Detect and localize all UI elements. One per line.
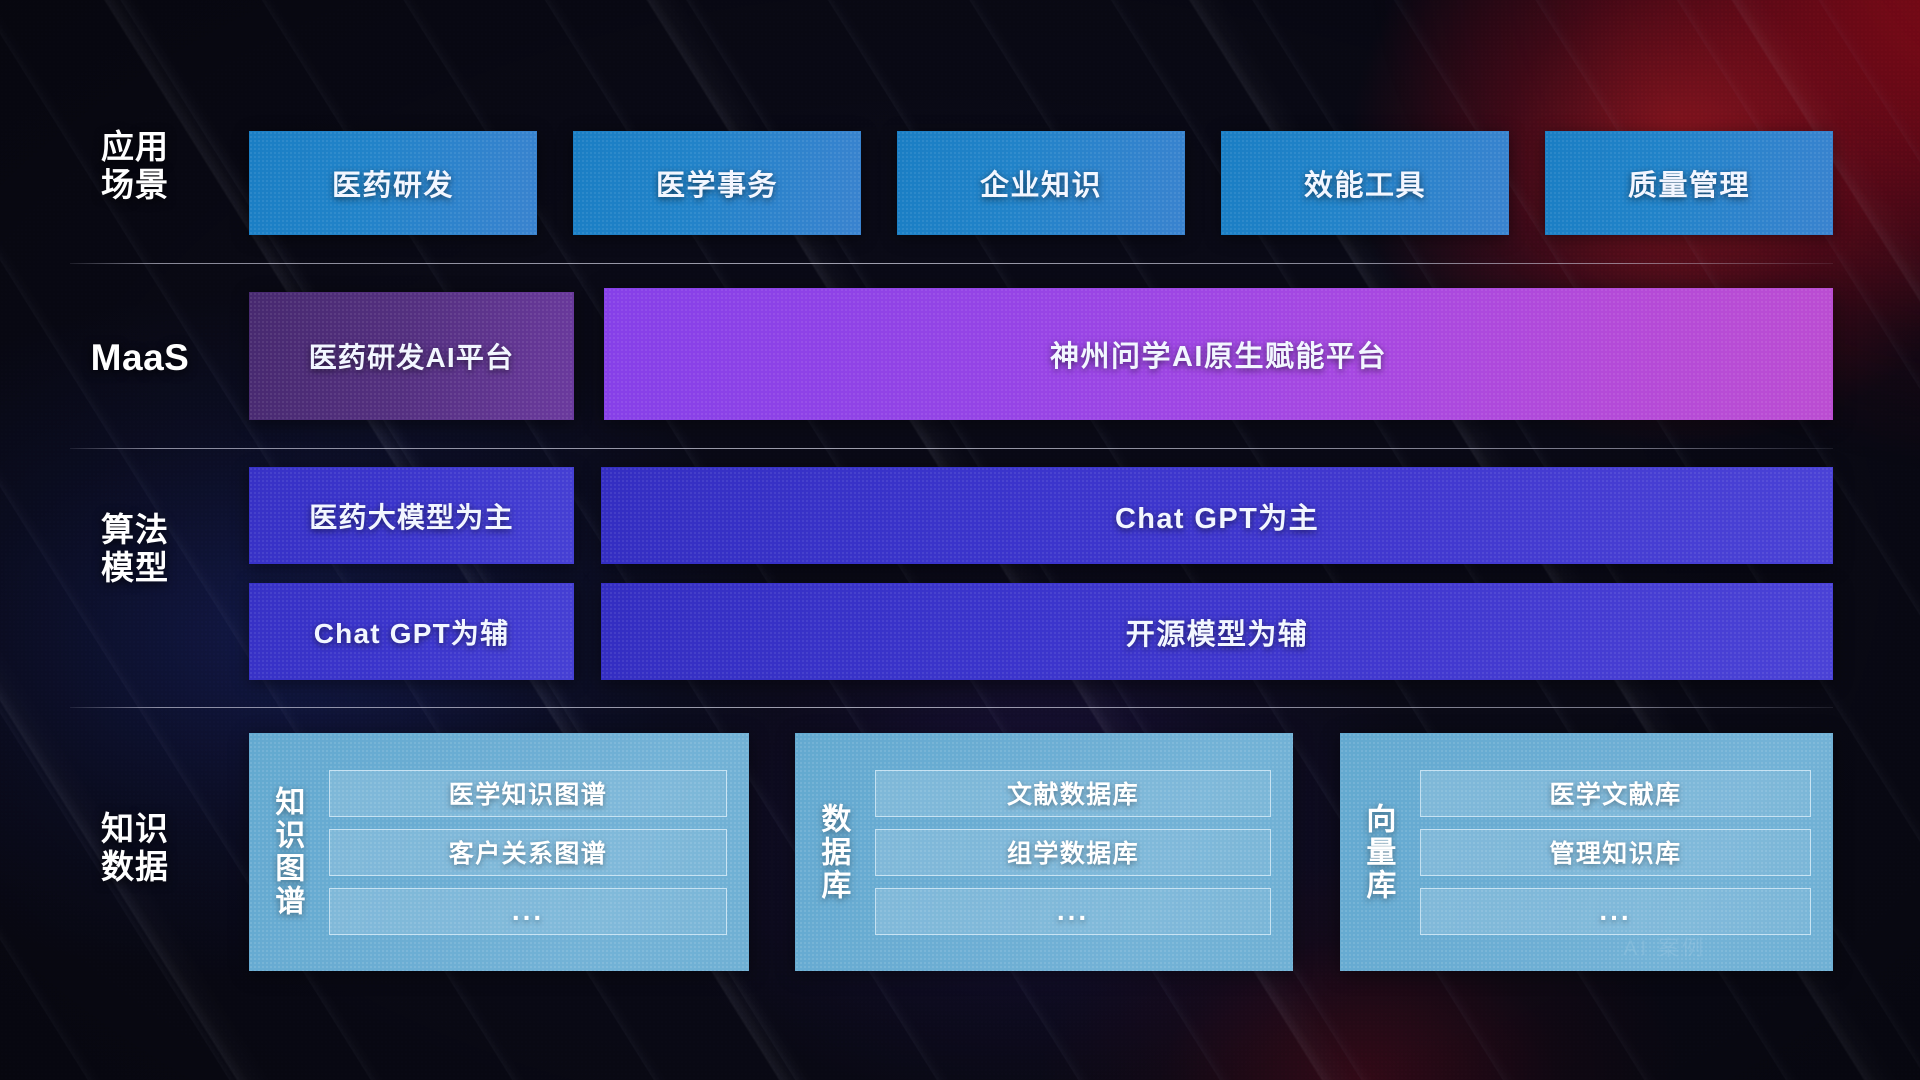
- knowledge-item-label: 医学知识图谱: [449, 775, 607, 811]
- app-scenario-label: 企业知识: [980, 162, 1102, 204]
- algorithm-label: Chat GPT为主: [1115, 495, 1319, 537]
- knowledge-item-label: ...: [512, 895, 544, 927]
- row-divider-3: [70, 707, 1833, 708]
- row-label-line: 模型: [70, 549, 200, 587]
- algorithm-box-medical-llm-primary[interactable]: 医药大模型为主: [249, 467, 574, 564]
- knowledge-item-more[interactable]: ...: [1420, 888, 1811, 935]
- row-label-line: 数据: [70, 848, 200, 886]
- algorithm-label: 开源模型为辅: [1126, 611, 1308, 653]
- knowledge-item-label: 组学数据库: [1007, 834, 1139, 870]
- knowledge-item-more[interactable]: ...: [875, 888, 1271, 935]
- maas-box-medical-ai-platform[interactable]: 医药研发AI平台: [249, 292, 574, 420]
- knowledge-item-label: 文献数据库: [1007, 775, 1139, 811]
- knowledge-item-label: 医学文献库: [1549, 775, 1681, 811]
- app-scenario-label: 医药研发: [332, 162, 454, 204]
- app-scenario-label: 质量管理: [1628, 162, 1750, 204]
- algorithm-label: Chat GPT为辅: [314, 612, 510, 652]
- app-scenario-box-3[interactable]: 企业知识: [897, 131, 1185, 235]
- app-scenario-box-5[interactable]: 质量管理: [1545, 131, 1833, 235]
- knowledge-item-label: ...: [1057, 895, 1089, 927]
- knowledge-panel-label: 数据库: [795, 733, 869, 971]
- row-label-algorithm-models: 算法 模型: [70, 511, 200, 588]
- row-label-line: MaaS: [70, 337, 210, 380]
- app-scenario-box-4[interactable]: 效能工具: [1221, 131, 1509, 235]
- knowledge-panel-database[interactable]: 数据库 文献数据库 组学数据库 ...: [795, 733, 1293, 971]
- algorithm-box-opensource-secondary[interactable]: 开源模型为辅: [601, 583, 1833, 680]
- knowledge-item[interactable]: 医学知识图谱: [329, 770, 727, 817]
- knowledge-panel-items: 文献数据库 组学数据库 ...: [869, 733, 1293, 971]
- row-label-application-scenarios: 应用 场景: [70, 128, 200, 205]
- knowledge-item[interactable]: 客户关系图谱: [329, 829, 727, 876]
- architecture-diagram: 应用 场景 医药研发 医学事务 企业知识 效能工具 质量管理 MaaS 医药研发…: [0, 0, 1920, 1080]
- row-divider-2: [70, 448, 1833, 449]
- app-scenario-box-2[interactable]: 医学事务: [573, 131, 861, 235]
- knowledge-item[interactable]: 管理知识库: [1420, 829, 1811, 876]
- maas-label: 神州问学AI原生赋能平台: [1050, 333, 1387, 375]
- row-label-knowledge-data: 知识 数据: [70, 810, 200, 887]
- app-scenario-label: 医学事务: [656, 162, 778, 204]
- maas-box-shenzhou-platform[interactable]: 神州问学AI原生赋能平台: [604, 288, 1833, 420]
- algorithm-label: 医药大模型为主: [309, 496, 513, 536]
- maas-label: 医药研发AI平台: [309, 336, 515, 376]
- algorithm-box-chatgpt-secondary[interactable]: Chat GPT为辅: [249, 583, 574, 680]
- knowledge-panel-label: 知识图谱: [249, 733, 323, 971]
- knowledge-panel-knowledge-graph[interactable]: 知识图谱 医学知识图谱 客户关系图谱 ...: [249, 733, 749, 971]
- row-label-line: 知识: [70, 810, 200, 848]
- app-scenario-box-1[interactable]: 医药研发: [249, 131, 537, 235]
- knowledge-item[interactable]: 医学文献库: [1420, 770, 1811, 817]
- row-divider-1: [70, 263, 1833, 264]
- knowledge-panel-items: 医学文献库 管理知识库 ...: [1414, 733, 1833, 971]
- knowledge-item-label: 管理知识库: [1549, 834, 1681, 870]
- knowledge-item-label: 客户关系图谱: [449, 834, 607, 870]
- row-label-line: 场景: [70, 166, 200, 204]
- knowledge-panel-vector-store[interactable]: 向量库 医学文献库 管理知识库 ...: [1340, 733, 1833, 971]
- knowledge-item[interactable]: 组学数据库: [875, 829, 1271, 876]
- knowledge-panel-items: 医学知识图谱 客户关系图谱 ...: [323, 733, 749, 971]
- row-label-line: 应用: [70, 128, 200, 166]
- knowledge-item-label: ...: [1599, 895, 1631, 927]
- row-label-line: 算法: [70, 511, 200, 549]
- knowledge-item[interactable]: 文献数据库: [875, 770, 1271, 817]
- row-label-maas: MaaS: [70, 337, 210, 380]
- algorithm-box-chatgpt-primary[interactable]: Chat GPT为主: [601, 467, 1833, 564]
- knowledge-item-more[interactable]: ...: [329, 888, 727, 935]
- knowledge-panel-label: 向量库: [1340, 733, 1414, 971]
- app-scenario-label: 效能工具: [1304, 162, 1426, 204]
